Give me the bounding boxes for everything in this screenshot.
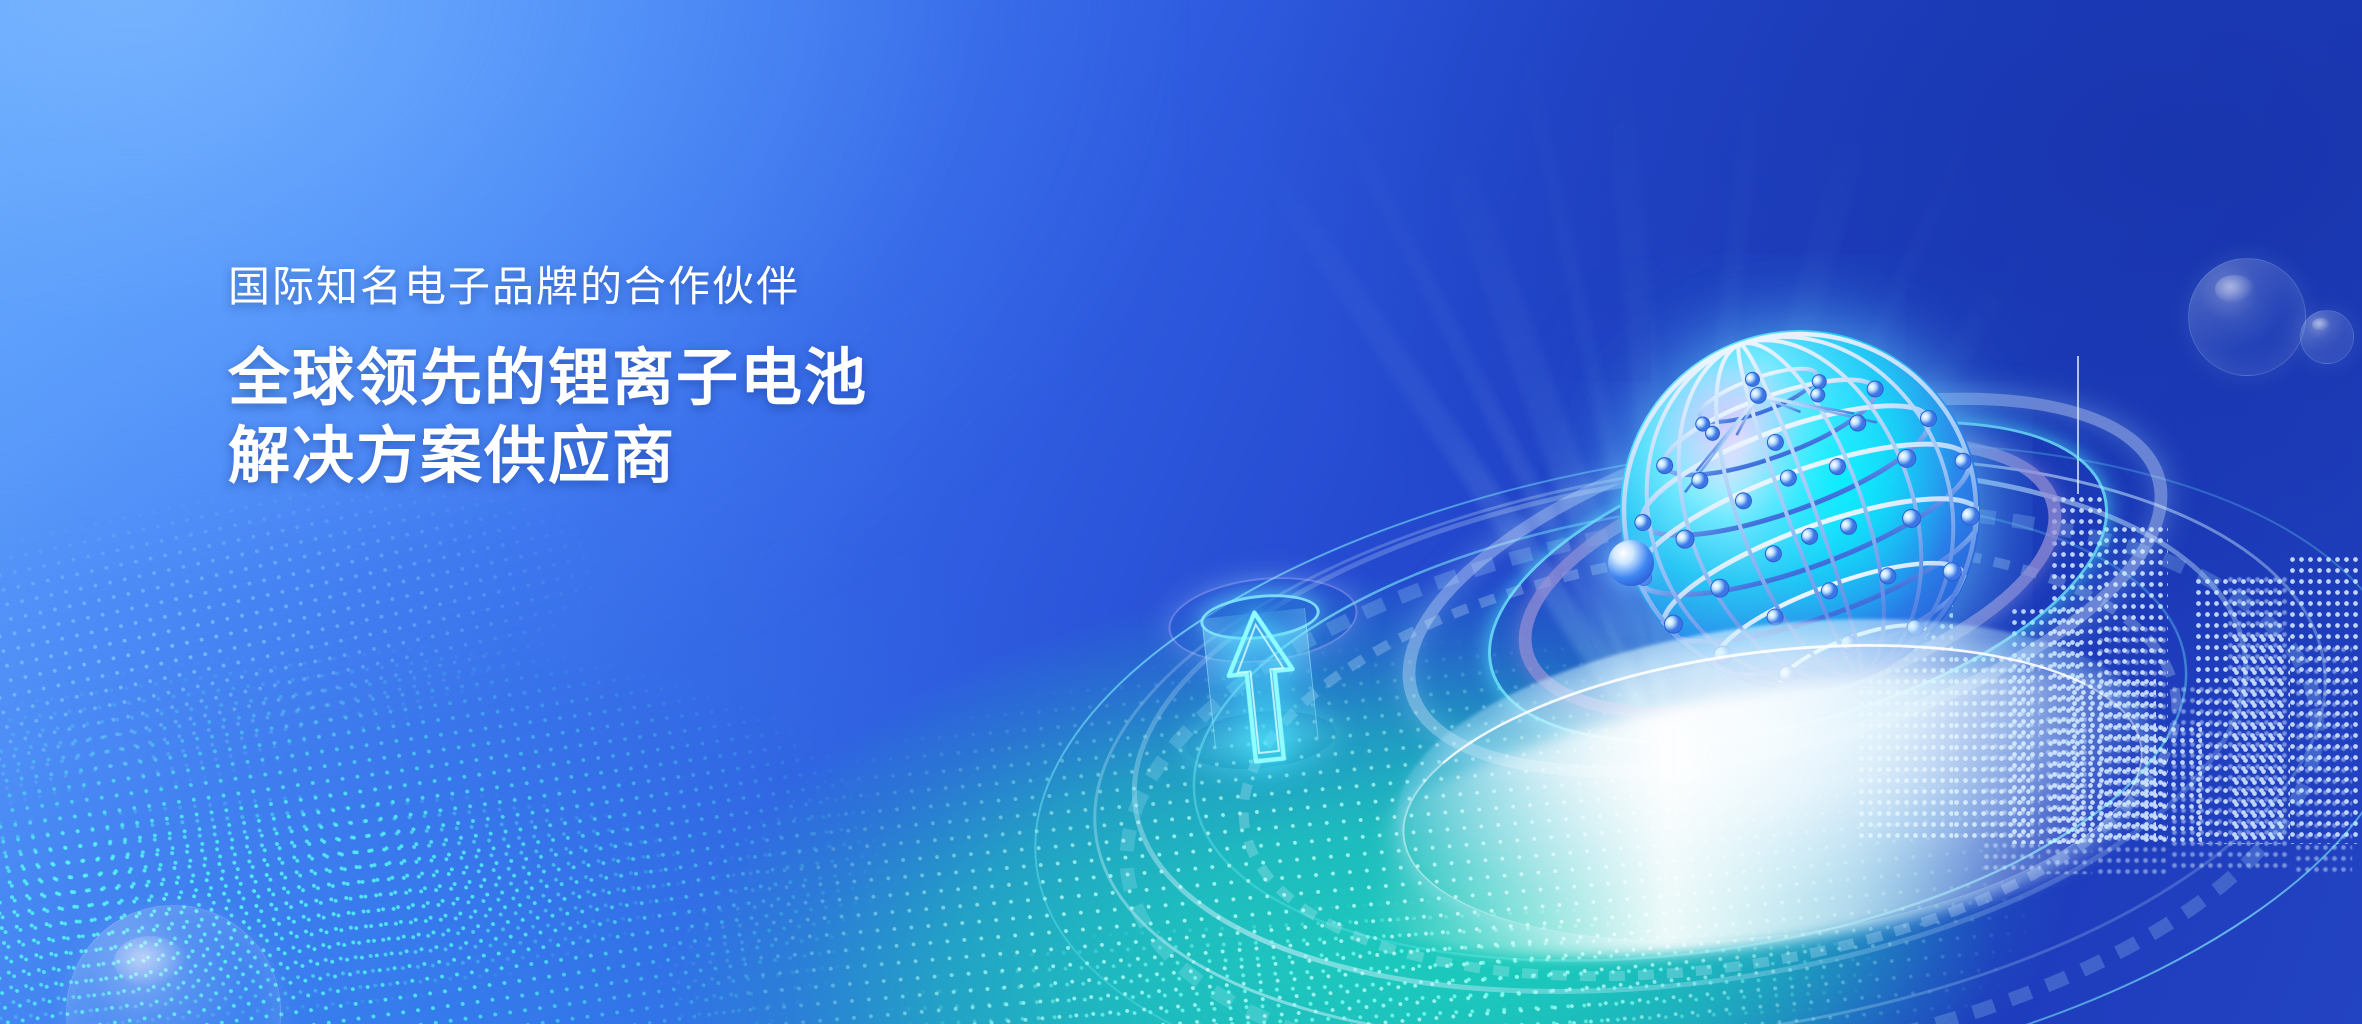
upward-arrow-icon [1190, 590, 1340, 780]
bubble-top-right-small [2300, 310, 2354, 364]
banner-headline-line-2: 解决方案供应商 [228, 418, 868, 496]
banner-headline-line-1: 全球领先的锂离子电池 [228, 340, 868, 418]
hero-banner: 国际知名电子品牌的合作伙伴 全球领先的锂离子电池 解决方案供应商 [0, 0, 2362, 1024]
bubble-top-right [2188, 258, 2306, 376]
banner-copy: 国际知名电子品牌的合作伙伴 全球领先的锂离子电池 解决方案供应商 [228, 264, 868, 496]
orbit-node-sphere [1608, 540, 1654, 586]
banner-eyebrow: 国际知名电子品牌的合作伙伴 [228, 264, 868, 310]
banner-headline: 全球领先的锂离子电池 解决方案供应商 [228, 340, 868, 496]
